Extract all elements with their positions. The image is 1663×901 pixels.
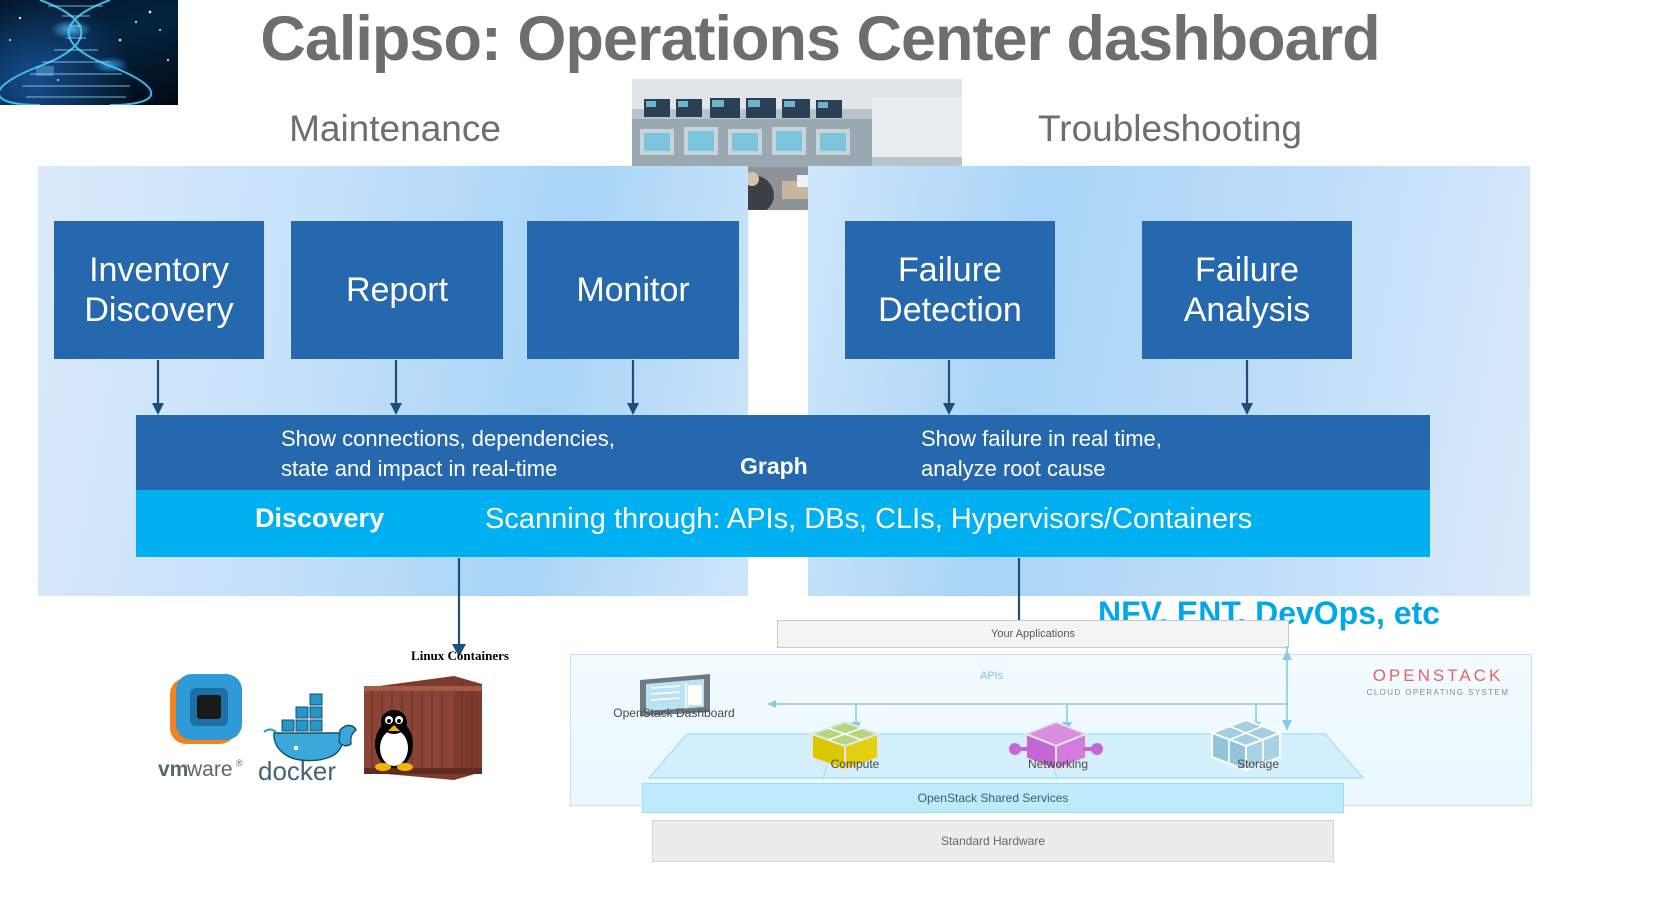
svg-text:ware: ware <box>186 758 233 781</box>
linux-containers-label: Linux Containers <box>370 648 550 664</box>
box-monitor[interactable]: Monitor <box>527 221 739 359</box>
box-monitor-label: Monitor <box>576 270 689 310</box>
svg-text:®: ® <box>236 758 243 768</box>
graph-bar-left-line1: Show connections, dependencies, <box>281 424 711 454</box>
openstack-wordmark-main: OPENSTACK <box>1353 666 1523 686</box>
networking-label: Networking <box>998 757 1118 771</box>
box-failure-analysis-line1: Failure <box>1184 250 1311 290</box>
box-inventory-discovery-line1: Inventory <box>84 250 233 290</box>
openstack-wordmark: OPENSTACK CLOUD OPERATING SYSTEM <box>1353 666 1523 697</box>
box-report[interactable]: Report <box>291 221 503 359</box>
compute-label: Compute <box>795 757 915 771</box>
graph-bar-right-line2: analyze root cause <box>921 454 1341 484</box>
apis-label: APIs <box>980 670 1040 682</box>
discovery-bar-label: Discovery <box>255 503 455 534</box>
heading-troubleshooting: Troubleshooting <box>1000 108 1340 150</box>
graph-bar-right-text: Show failure in real time, analyze root … <box>921 424 1341 484</box>
box-failure-detection-line1: Failure <box>878 250 1022 290</box>
svg-text:vm: vm <box>158 758 188 781</box>
standard-hardware-bar: Standard Hardware <box>652 820 1334 862</box>
page-title: Calipso: Operations Center dashboard <box>170 4 1470 74</box>
vmware-logo: vm ware ® <box>158 672 248 787</box>
discovery-bar-text: Scanning through: APIs, DBs, CLIs, Hyper… <box>485 503 1425 536</box>
graph-bar-left-line2: state and impact in real-time <box>281 454 711 484</box>
box-inventory-discovery-line2: Discovery <box>84 290 233 330</box>
graph-bar-right-line1: Show failure in real time, <box>921 424 1341 454</box>
linux-container-image <box>358 668 486 788</box>
openstack-architecture-diagram: Your Applications OpenStack Dashbo <box>570 620 1530 901</box>
svg-text:docker: docker <box>258 756 336 784</box>
storage-label: Storage <box>1198 757 1318 771</box>
openstack-dashboard-label: OpenStack Dashboard <box>584 706 764 720</box>
box-report-label: Report <box>346 270 448 310</box>
heading-maintenance: Maintenance <box>230 108 560 150</box>
box-failure-detection[interactable]: Failure Detection <box>845 221 1055 359</box>
box-failure-analysis-line2: Analysis <box>1184 290 1311 330</box>
graph-bar-label: Graph <box>740 453 860 480</box>
box-failure-analysis[interactable]: Failure Analysis <box>1142 221 1352 359</box>
box-inventory-discovery[interactable]: Inventory Discovery <box>54 221 264 359</box>
dna-logo-image <box>0 0 178 105</box>
graph-bar-left-text: Show connections, dependencies, state an… <box>281 424 711 484</box>
box-failure-detection-line2: Detection <box>878 290 1022 330</box>
openstack-shared-services-bar: OpenStack Shared Services <box>642 783 1344 813</box>
docker-logo: docker <box>258 676 358 784</box>
openstack-wordmark-sub: CLOUD OPERATING SYSTEM <box>1353 688 1523 697</box>
